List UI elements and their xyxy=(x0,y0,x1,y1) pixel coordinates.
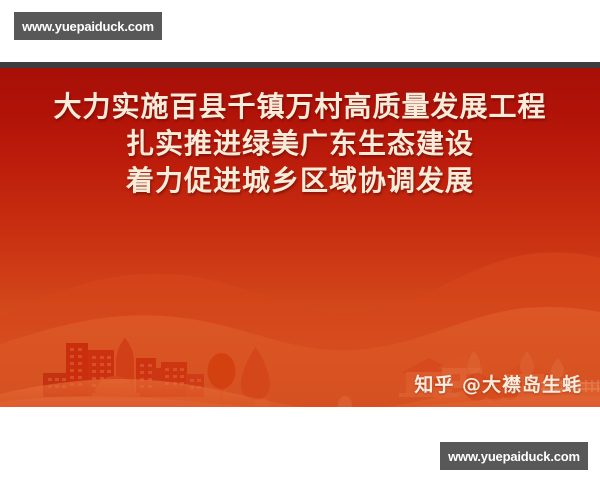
headline-block: 大力实施百县千镇万村高质量发展工程 扎实推进绿美广东生态建设 着力促进城乡区域协… xyxy=(0,88,600,200)
promo-banner: 大力实施百县千镇万村高质量发展工程 扎实推进绿美广东生态建设 着力促进城乡区域协… xyxy=(0,62,600,407)
watermark-top: www.yuepaiduck.com xyxy=(14,12,162,40)
headline-line-2: 扎实推进绿美广东生态建设 xyxy=(0,125,600,162)
watermark-bottom: www.yuepaiduck.com xyxy=(440,442,588,470)
watermark-bottom-text: www.yuepaiduck.com xyxy=(448,449,580,464)
banner-top-divider xyxy=(0,62,600,68)
watermark-top-text: www.yuepaiduck.com xyxy=(22,19,154,34)
attribution-text: 知乎 @大襟岛生蚝 xyxy=(414,370,582,397)
headline-line-1: 大力实施百县千镇万村高质量发展工程 xyxy=(0,88,600,125)
headline-line-3: 着力促进城乡区域协调发展 xyxy=(0,162,600,199)
